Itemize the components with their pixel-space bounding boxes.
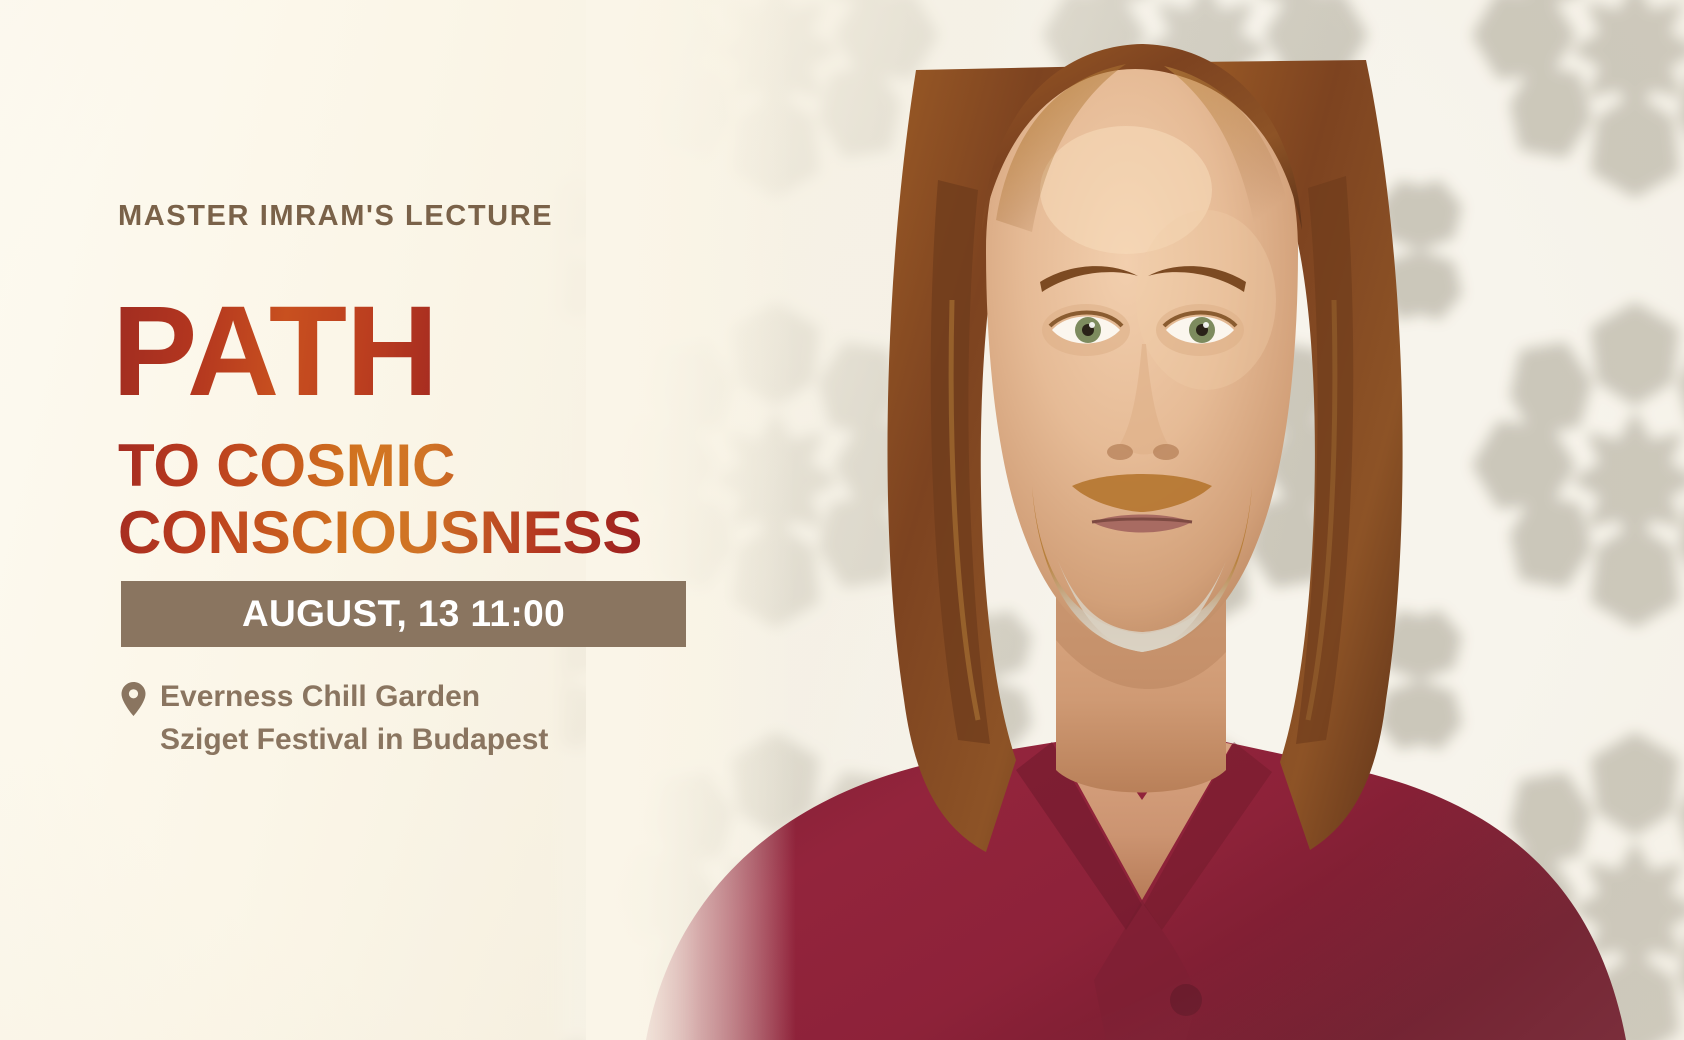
venue-name: Everness Chill Garden	[160, 676, 548, 719]
subtitle: TO COSMIC CONSCIOUSNESS	[118, 432, 642, 566]
venue-text: Everness Chill Garden Sziget Festival in…	[160, 676, 548, 761]
page-title: PATH	[112, 293, 437, 411]
lecture-eyebrow-label: MASTER IMRAM'S LECTURE	[118, 200, 553, 233]
venue-block: Everness Chill Garden Sziget Festival in…	[121, 676, 548, 761]
banner-content: MASTER IMRAM'S LECTURE PATH TO COSMIC CO…	[118, 0, 718, 1040]
venue-detail: Sziget Festival in Budapest	[160, 719, 548, 762]
subtitle-line-1: TO COSMIC	[118, 432, 455, 499]
event-banner: MASTER IMRAM'S LECTURE PATH TO COSMIC CO…	[0, 0, 1684, 1040]
date-badge: AUGUST, 13 11:00	[121, 581, 686, 647]
subtitle-line-2: CONSCIOUSNESS	[118, 499, 642, 566]
date-badge-label: AUGUST, 13 11:00	[242, 593, 565, 635]
location-pin-icon	[121, 682, 146, 716]
